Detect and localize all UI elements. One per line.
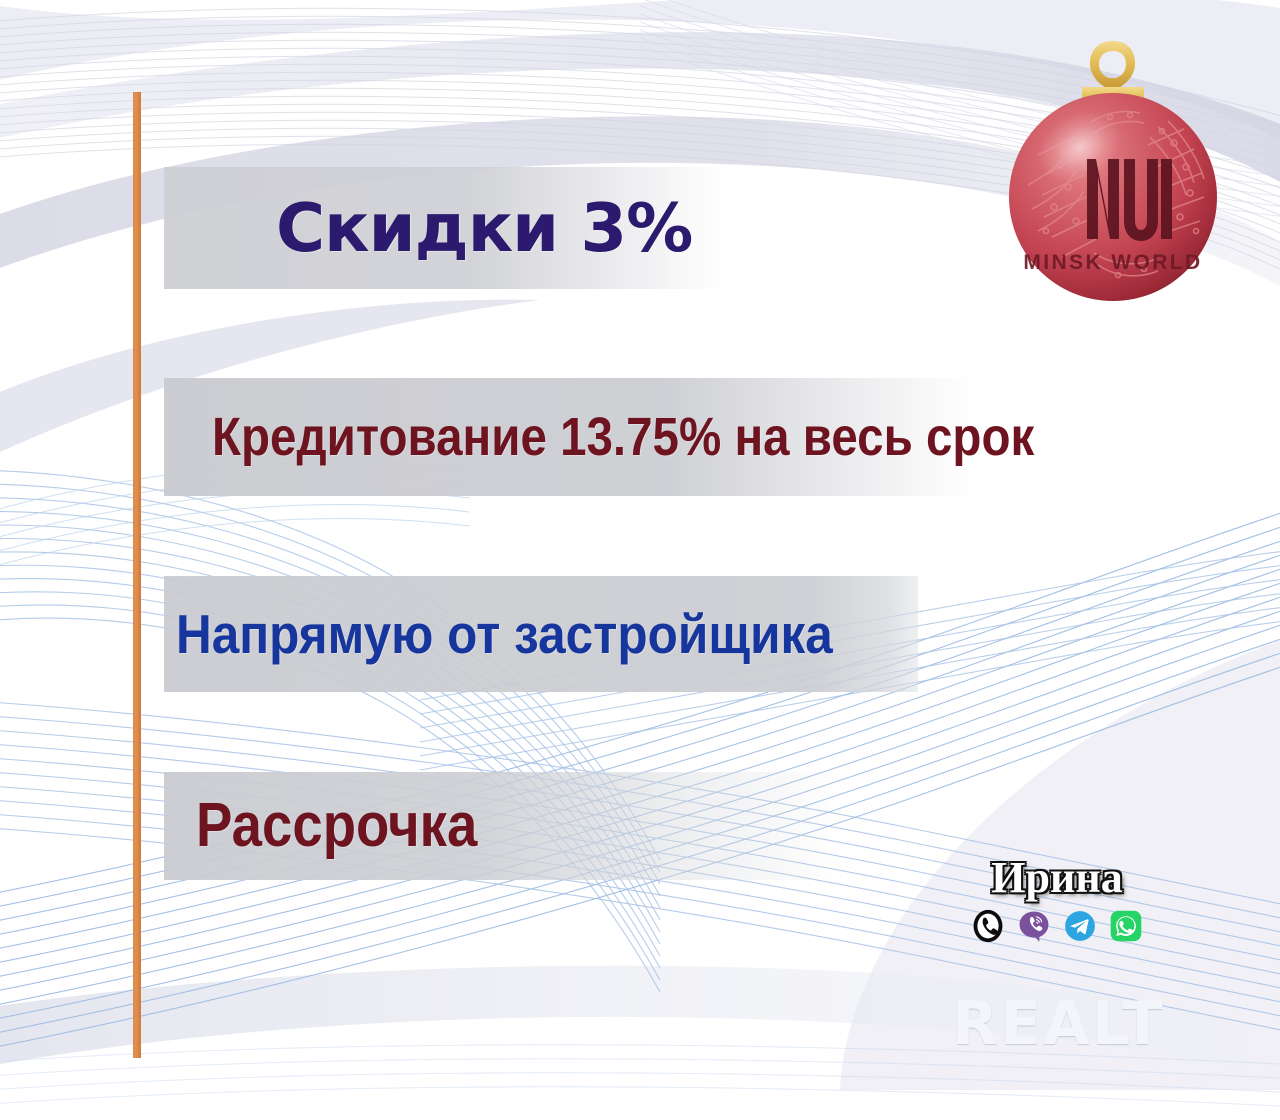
promo-slide: REALT Скидки 3% Кредитование 13.75% на в… [0, 0, 1280, 1120]
offer-label-discount: Скидки 3% [276, 195, 692, 262]
viber-icon[interactable] [1017, 909, 1051, 943]
telegram-icon[interactable] [1063, 909, 1097, 943]
ornament-brand-text: MINSK WORLD [1023, 251, 1202, 274]
offer-plate-installment: Рассрочка [164, 772, 904, 880]
offer-label-developer: Напрямую от застройщика [176, 607, 833, 662]
offer-plate-discount: Скидки 3% [164, 167, 724, 289]
agent-name: Ирина [952, 855, 1162, 901]
christmas-ornament-icon: MINSK WORLD [998, 25, 1228, 315]
offer-label-credit: Кредитование 13.75% на весь срок [212, 410, 1034, 464]
accent-rule [133, 92, 141, 1058]
offer-label-installment: Рассрочка [196, 795, 477, 857]
whatsapp-icon[interactable] [1109, 909, 1143, 943]
agent-contact-block: Ирина [952, 855, 1162, 943]
ornament-loop [1090, 41, 1135, 87]
realt-watermark: REALT [952, 988, 1212, 1060]
offer-plate-developer: Напрямую от застройщика [164, 576, 918, 692]
offer-plate-credit: Кредитование 13.75% на весь срок [164, 378, 974, 496]
phone-icon[interactable] [971, 909, 1005, 943]
messenger-icon-row [952, 909, 1162, 943]
